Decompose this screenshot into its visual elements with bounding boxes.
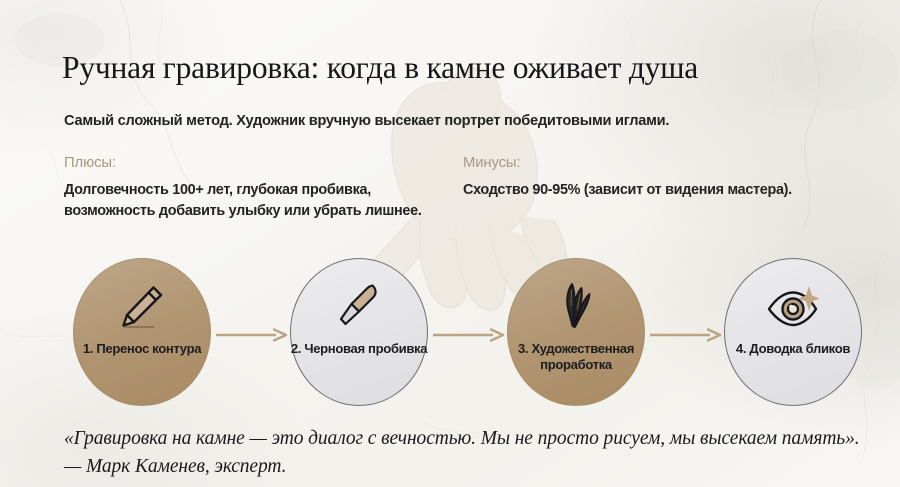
expert-quote: «Гравировка на камне — это диалог с вечн… bbox=[64, 425, 864, 480]
arrow-2-to-3 bbox=[433, 328, 505, 342]
eye-sparkle-icon bbox=[766, 281, 820, 331]
infographic-page: Ручная гравировка: когда в камне оживает… bbox=[0, 0, 900, 487]
pencil-icon bbox=[115, 281, 169, 331]
arrow-1-to-2 bbox=[216, 328, 288, 342]
step-2-label: 2. Черновая пробивка bbox=[286, 341, 432, 357]
pros-body: Долговечность 100+ лет, глубокая пробивк… bbox=[64, 180, 439, 222]
pros-column: Плюсы: Долговечность 100+ лет, глубокая … bbox=[64, 155, 455, 222]
pros-heading: Плюсы: bbox=[64, 155, 455, 171]
arrow-3-to-4 bbox=[650, 328, 722, 342]
step-2-rough-punching[interactable]: 2. Черновая пробивка bbox=[290, 258, 428, 406]
pros-cons-columns: Плюсы: Долговечность 100+ лет, глубокая … bbox=[64, 155, 854, 222]
step-4-label: 4. Доводка бликов bbox=[720, 341, 866, 357]
step-3-label: 3. Художественная проработка bbox=[503, 341, 649, 374]
process-steps: 1. Перенос контура bbox=[0, 258, 900, 408]
page-title: Ручная гравировка: когда в камне оживает… bbox=[62, 50, 862, 86]
needles-icon bbox=[549, 281, 603, 331]
cons-column: Минусы: Сходство 90-95% (зависит от виде… bbox=[455, 155, 854, 222]
cons-body: Сходство 90-95% (зависит от видения маст… bbox=[463, 180, 838, 201]
step-1-label: 1. Перенос контура bbox=[69, 341, 215, 357]
chisel-icon bbox=[332, 281, 386, 331]
page-subtitle: Самый сложный метод. Художник вручную вы… bbox=[64, 113, 864, 129]
step-3-artistic-work[interactable]: 3. Художественная проработка bbox=[507, 258, 645, 406]
step-4-highlight-finishing[interactable]: 4. Доводка бликов bbox=[724, 258, 862, 406]
step-1-transfer-contour[interactable]: 1. Перенос контура bbox=[73, 258, 211, 406]
cons-heading: Минусы: bbox=[463, 155, 854, 171]
